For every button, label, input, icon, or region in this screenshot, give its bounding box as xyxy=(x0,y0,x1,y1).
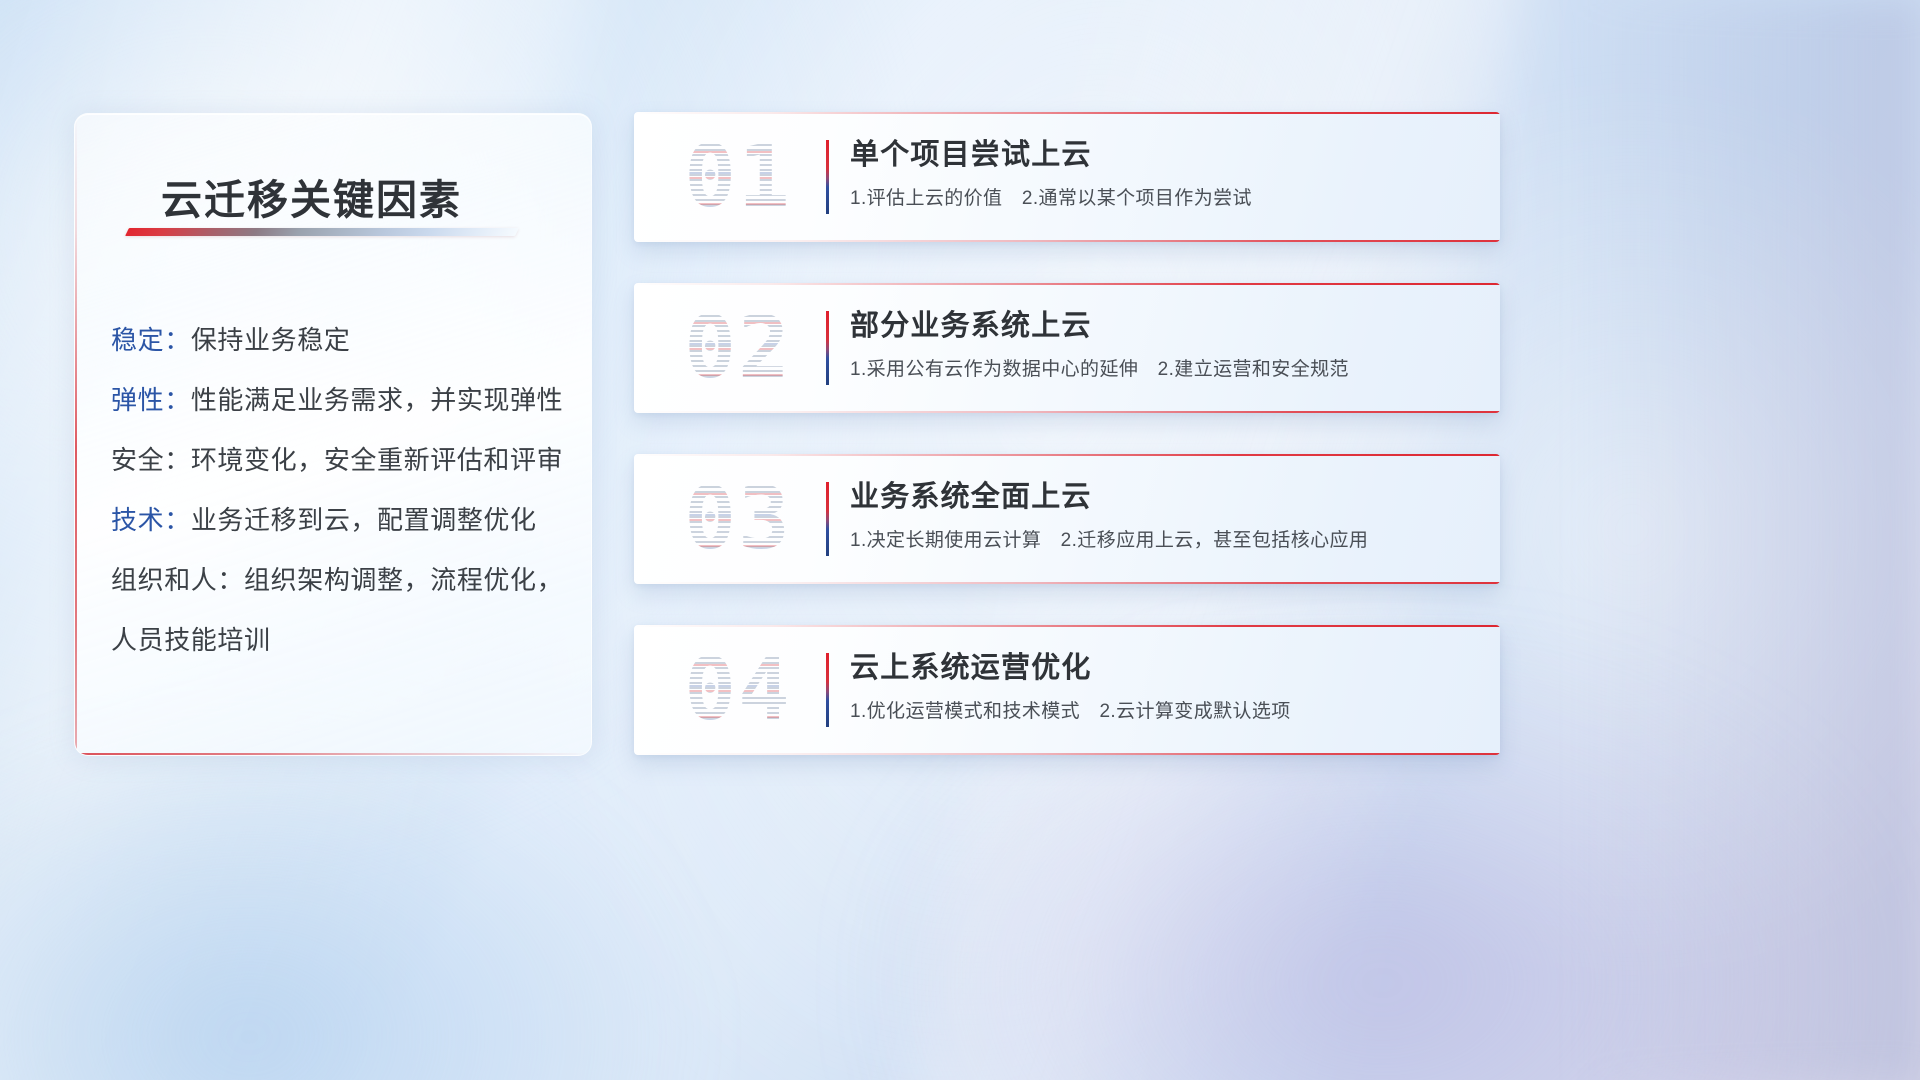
stage-card-body: 部分业务系统上云 1.采用公有云作为数据中心的延伸 2.建立运营和安全规范 xyxy=(850,306,1474,383)
list-item-label: 稳定： xyxy=(111,325,191,355)
stage-card-03[interactable]: 03 03 03 业务系统全面上云 1.决定长期使用云计算 2.迁移应用上云，甚… xyxy=(634,454,1500,584)
stage-number-blue-stripes: 02 xyxy=(662,296,814,400)
stage-card-02[interactable]: 02 02 02 部分业务系统上云 1.采用公有云作为数据中心的延伸 2.建立运… xyxy=(634,283,1500,413)
list-item-label: 弹性： xyxy=(111,385,191,415)
list-item-text: 环境变化，安全重新评估和评审 xyxy=(191,445,563,475)
stage-accent-bar xyxy=(826,311,829,385)
stage-number-red-stripes: 03 xyxy=(662,467,814,571)
page-title: 云迁移关键因素 xyxy=(161,166,462,226)
stage-number-glyph: 02 xyxy=(684,305,792,391)
stage-number-red-stripes: 04 xyxy=(662,638,814,742)
list-item-label: 组织和人： xyxy=(111,565,244,595)
stage-card-title: 云上系统运营优化 xyxy=(850,648,1474,688)
stage-accent-bar xyxy=(826,653,829,727)
stage-card-body: 云上系统运营优化 1.优化运营模式和技术模式 2.云计算变成默认选项 xyxy=(850,648,1474,725)
stage-card-body: 业务系统全面上云 1.决定长期使用云计算 2.迁移应用上云，甚至包括核心应用 xyxy=(850,477,1474,554)
stage-number-01: 01 01 01 xyxy=(662,125,814,229)
list-item: 安全：环境变化，安全重新评估和评审 xyxy=(111,430,569,490)
stage-card-description: 1.决定长期使用云计算 2.迁移应用上云，甚至包括核心应用 xyxy=(850,528,1474,554)
stage-accent-bar xyxy=(826,482,829,556)
migration-stage-cards: 01 01 01 单个项目尝试上云 1.评估上云的价值 2.通常以某个项目作为尝… xyxy=(634,112,1500,796)
title-underline-rule xyxy=(125,228,519,236)
list-item-text: 业务迁移到云，配置调整优化 xyxy=(191,505,537,535)
stage-number-red-stripes: 01 xyxy=(662,125,814,229)
stage-number-glyph: 03 xyxy=(684,476,792,562)
stage-card-description: 1.采用公有云作为数据中心的延伸 2.建立运营和安全规范 xyxy=(850,357,1474,383)
stage-number-blue-stripes: 04 xyxy=(662,638,814,742)
slide-stage: 云迁移关键因素 稳定：保持业务稳定 弹性：性能满足业务需求，并实现弹性 安全：环… xyxy=(0,0,1920,1080)
stage-number-red-stripes: 02 xyxy=(662,296,814,400)
stage-number-03: 03 03 03 xyxy=(662,467,814,571)
list-item-label: 技术： xyxy=(111,505,191,535)
list-item-label: 安全： xyxy=(111,445,191,475)
stage-card-title: 单个项目尝试上云 xyxy=(850,135,1474,175)
stage-accent-bar xyxy=(826,140,829,214)
stage-number-glyph: 01 xyxy=(684,134,792,220)
stage-number-glyph: 04 xyxy=(684,647,792,733)
stage-card-body: 单个项目尝试上云 1.评估上云的价值 2.通常以某个项目作为尝试 xyxy=(850,135,1474,212)
list-item-text: 性能满足业务需求，并实现弹性 xyxy=(191,385,563,415)
stage-card-title: 业务系统全面上云 xyxy=(850,477,1474,517)
list-item: 稳定：保持业务稳定 xyxy=(111,310,569,370)
list-item: 组织和人：组织架构调整，流程优化，人员技能培训 xyxy=(111,550,569,670)
key-factors-panel: 云迁移关键因素 稳定：保持业务稳定 弹性：性能满足业务需求，并实现弹性 安全：环… xyxy=(74,113,592,756)
stage-number-blue-stripes: 03 xyxy=(662,467,814,571)
stage-card-04[interactable]: 04 04 04 云上系统运营优化 1.优化运营模式和技术模式 2.云计算变成默… xyxy=(634,625,1500,755)
stage-number-blue-stripes: 01 xyxy=(662,125,814,229)
stage-card-description: 1.优化运营模式和技术模式 2.云计算变成默认选项 xyxy=(850,699,1474,725)
key-factors-list: 稳定：保持业务稳定 弹性：性能满足业务需求，并实现弹性 安全：环境变化，安全重新… xyxy=(111,310,569,670)
stage-number-04: 04 04 04 xyxy=(662,638,814,742)
list-item-text: 保持业务稳定 xyxy=(191,325,351,355)
list-item: 弹性：性能满足业务需求，并实现弹性 xyxy=(111,370,569,430)
stage-number-02: 02 02 02 xyxy=(662,296,814,400)
stage-card-title: 部分业务系统上云 xyxy=(850,306,1474,346)
list-item: 技术：业务迁移到云，配置调整优化 xyxy=(111,490,569,550)
stage-card-description: 1.评估上云的价值 2.通常以某个项目作为尝试 xyxy=(850,186,1474,212)
stage-card-01[interactable]: 01 01 01 单个项目尝试上云 1.评估上云的价值 2.通常以某个项目作为尝… xyxy=(634,112,1500,242)
